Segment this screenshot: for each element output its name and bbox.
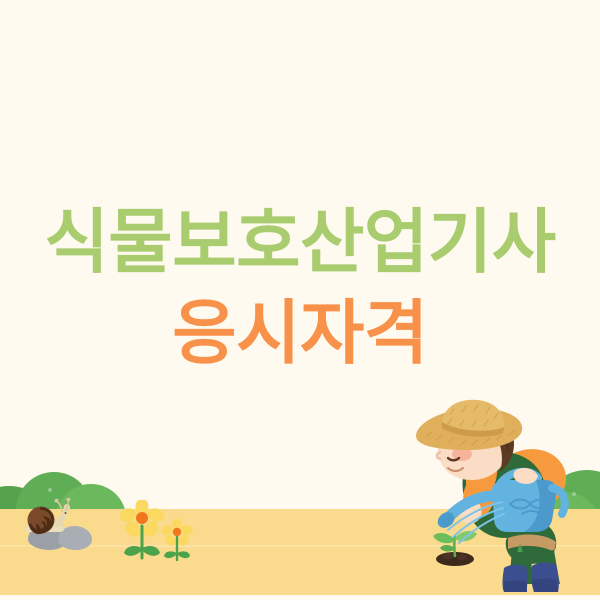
title-line-primary: 식물보호산업기사 <box>0 196 600 288</box>
title-line-secondary: 응시자격 <box>0 288 600 378</box>
flower-small <box>160 519 194 563</box>
poster-canvas: 식물보호산업기사 응시자격 <box>0 0 600 600</box>
farmer <box>404 392 600 592</box>
bush-left-dot-a <box>48 488 52 492</box>
flower-large <box>118 500 166 562</box>
water-spray <box>440 500 510 546</box>
snail <box>22 498 74 540</box>
page-title: 식물보호산업기사 응시자격 <box>0 196 600 378</box>
